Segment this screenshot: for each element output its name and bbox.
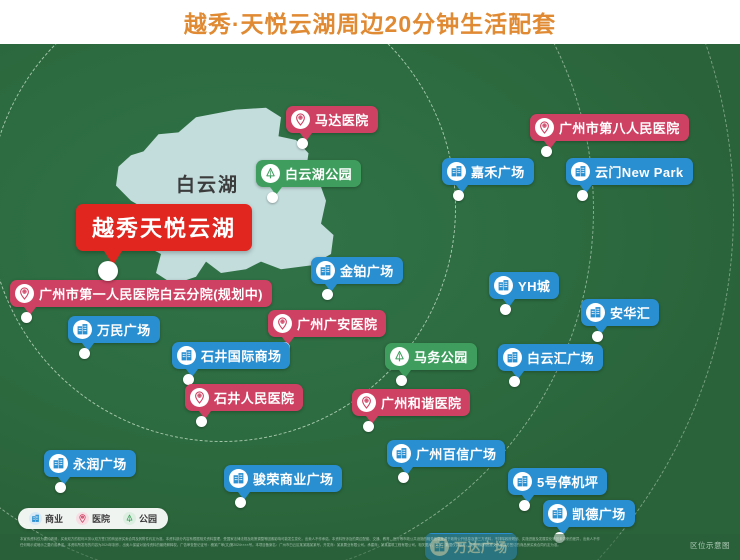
poi-pill: 云门New Park xyxy=(566,158,693,185)
poi-marker[interactable]: 万民广场 xyxy=(68,316,160,343)
poi-label: 马达医院 xyxy=(315,110,369,129)
poi-pin-dot xyxy=(196,416,207,427)
poi-label: 广州和谐医院 xyxy=(381,393,461,412)
tree-icon xyxy=(390,347,409,366)
legend-item: 商业 xyxy=(29,512,63,525)
poi-pill: YH城 xyxy=(489,272,559,299)
building-icon xyxy=(503,348,522,367)
poi-pin-dot xyxy=(267,192,278,203)
poi-pin-dot xyxy=(322,289,333,300)
poi-pin-dot xyxy=(396,375,407,386)
poi-pill: 石井人民医院 xyxy=(185,384,303,411)
legend-label: 医院 xyxy=(92,512,110,525)
poi-label: 石井国际商场 xyxy=(201,346,281,365)
poi-label: YH城 xyxy=(518,276,550,295)
poi-pill: 安华汇 xyxy=(581,299,659,326)
page-title: 越秀·天悦云湖周边20分钟生活配套 xyxy=(184,5,556,39)
project-marker[interactable]: 越秀天悦云湖 xyxy=(76,204,252,251)
poi-label: 广州市第一人民医院白云分院(规划中) xyxy=(39,284,263,303)
poi-marker[interactable]: 广州广安医院 xyxy=(268,310,386,337)
poi-pill: 5号停机坪 xyxy=(508,468,607,495)
poi-pin-dot xyxy=(453,190,464,201)
building-icon xyxy=(513,472,532,491)
poi-marker[interactable]: 金铂广场 xyxy=(311,257,403,284)
project-marker-label: 越秀天悦云湖 xyxy=(92,211,236,243)
poi-marker[interactable]: 安华汇 xyxy=(581,299,659,326)
building-icon xyxy=(494,276,513,295)
legend: 商业医院公园 xyxy=(18,508,168,529)
poi-pill: 白云湖公园 xyxy=(256,160,361,187)
poi-pill: 广州百信广场 xyxy=(387,440,505,467)
building-icon xyxy=(571,162,590,181)
poi-label: 石井人民医院 xyxy=(214,388,294,407)
poi-pill: 永润广场 xyxy=(44,450,136,477)
building-icon xyxy=(548,504,567,523)
legend-item: 医院 xyxy=(76,512,110,525)
poi-marker[interactable]: 白云汇广场 xyxy=(498,344,603,371)
footer: 本宣传资料仅为要约邀请，买卖双方的权利义务以双方签订的商品房买卖合同及其附件约定… xyxy=(0,534,740,560)
legend-label: 商业 xyxy=(45,512,63,525)
building-icon xyxy=(586,303,605,322)
poi-pill: 马务公园 xyxy=(385,343,477,370)
building-icon xyxy=(177,346,196,365)
poi-pill: 金铂广场 xyxy=(311,257,403,284)
poi-label: 嘉禾广场 xyxy=(471,162,525,181)
poi-pin-dot xyxy=(577,190,588,201)
poi-label: 广州市第八人民医院 xyxy=(559,118,680,137)
poi-pin-dot xyxy=(509,376,520,387)
project-marker-box: 越秀天悦云湖 xyxy=(76,204,252,251)
poi-marker[interactable]: 白云湖公园 xyxy=(256,160,361,187)
poi-label: 金铂广场 xyxy=(340,261,394,280)
poi-marker[interactable]: 云门New Park xyxy=(566,158,693,185)
building-icon xyxy=(447,162,466,181)
poi-pin-dot xyxy=(363,421,374,432)
poi-marker[interactable]: 广州和谐医院 xyxy=(352,389,470,416)
poi-pin-dot xyxy=(235,497,246,508)
building-icon xyxy=(316,261,335,280)
building-icon xyxy=(392,444,411,463)
poi-pill: 广州广安医院 xyxy=(268,310,386,337)
lake-label: 白云湖 xyxy=(176,170,239,197)
poi-pin-dot xyxy=(541,146,552,157)
location-map-infographic: 越秀·天悦云湖周边20分钟生活配套 白云湖 越秀天悦云湖 马达医院广州市第八人民… xyxy=(0,0,740,560)
hospital-pin-icon xyxy=(535,118,554,137)
project-marker-pin xyxy=(98,261,118,281)
legend-item: 公园 xyxy=(123,512,157,525)
poi-label: 永润广场 xyxy=(73,454,127,473)
poi-label: 凯德广场 xyxy=(572,504,626,523)
tree-icon xyxy=(261,164,280,183)
poi-pin-dot xyxy=(55,482,66,493)
poi-label: 白云湖公园 xyxy=(285,164,352,183)
poi-marker[interactable]: 石井国际商场 xyxy=(172,342,290,369)
poi-pill: 万民广场 xyxy=(68,316,160,343)
poi-label: 云门New Park xyxy=(595,162,684,181)
building-icon xyxy=(73,320,92,339)
poi-marker[interactable]: 凯德广场 xyxy=(543,500,635,527)
poi-label: 广州广安医院 xyxy=(297,314,377,333)
poi-marker[interactable]: YH城 xyxy=(489,272,559,299)
poi-pin-dot xyxy=(79,348,90,359)
poi-label: 5号停机坪 xyxy=(537,472,598,491)
title-bar: 越秀·天悦云湖周边20分钟生活配套 xyxy=(0,0,740,44)
building-icon xyxy=(229,469,248,488)
legend-label: 公园 xyxy=(139,512,157,525)
poi-pill: 广州和谐医院 xyxy=(352,389,470,416)
poi-marker[interactable]: 广州市第一人民医院白云分院(规划中) xyxy=(10,280,272,307)
poi-pill: 石井国际商场 xyxy=(172,342,290,369)
poi-label: 安华汇 xyxy=(610,303,650,322)
map-caption: 区位示意图 xyxy=(690,540,730,551)
building-icon xyxy=(29,512,42,525)
poi-marker[interactable]: 马务公园 xyxy=(385,343,477,370)
poi-marker[interactable]: 马达医院 xyxy=(286,106,378,133)
building-icon xyxy=(49,454,68,473)
legal-disclaimer: 本宣传资料仅为要约邀请，买卖双方的权利义务以双方签订的商品房买卖合同及其附件约定… xyxy=(20,537,600,549)
poi-label: 马务公园 xyxy=(414,347,468,366)
poi-pin-dot xyxy=(592,331,603,342)
map-canvas: 白云湖 越秀天悦云湖 马达医院广州市第八人民医院白云湖公园嘉禾广场云门New P… xyxy=(0,44,740,560)
poi-pin-dot xyxy=(21,312,32,323)
poi-pin-dot xyxy=(500,304,511,315)
poi-marker[interactable]: 嘉禾广场 xyxy=(442,158,534,185)
poi-marker[interactable]: 5号停机坪 xyxy=(508,468,607,495)
poi-marker[interactable]: 永润广场 xyxy=(44,450,136,477)
hospital-pin-icon xyxy=(291,110,310,129)
poi-marker[interactable]: 广州市第八人民医院 xyxy=(530,114,689,141)
poi-pill: 凯德广场 xyxy=(543,500,635,527)
poi-pin-dot xyxy=(398,472,409,483)
poi-pin-dot xyxy=(297,138,308,149)
poi-marker[interactable]: 广州百信广场 xyxy=(387,440,505,467)
hospital-pin-icon xyxy=(76,512,89,525)
poi-pill: 广州市第一人民医院白云分院(规划中) xyxy=(10,280,272,307)
hospital-pin-icon xyxy=(190,388,209,407)
hospital-pin-icon xyxy=(357,393,376,412)
tree-icon xyxy=(123,512,136,525)
poi-label: 万民广场 xyxy=(97,320,151,339)
poi-pill: 嘉禾广场 xyxy=(442,158,534,185)
poi-pill: 广州市第八人民医院 xyxy=(530,114,689,141)
poi-pill: 马达医院 xyxy=(286,106,378,133)
poi-label: 广州百信广场 xyxy=(416,444,496,463)
poi-marker[interactable]: 骏荣商业广场 xyxy=(224,465,342,492)
poi-pill: 白云汇广场 xyxy=(498,344,603,371)
poi-pin-dot xyxy=(519,500,530,511)
hospital-pin-icon xyxy=(15,284,34,303)
poi-pill: 骏荣商业广场 xyxy=(224,465,342,492)
hospital-pin-icon xyxy=(273,314,292,333)
poi-label: 白云汇广场 xyxy=(527,348,594,367)
poi-marker[interactable]: 石井人民医院 xyxy=(185,384,303,411)
poi-label: 骏荣商业广场 xyxy=(253,469,333,488)
